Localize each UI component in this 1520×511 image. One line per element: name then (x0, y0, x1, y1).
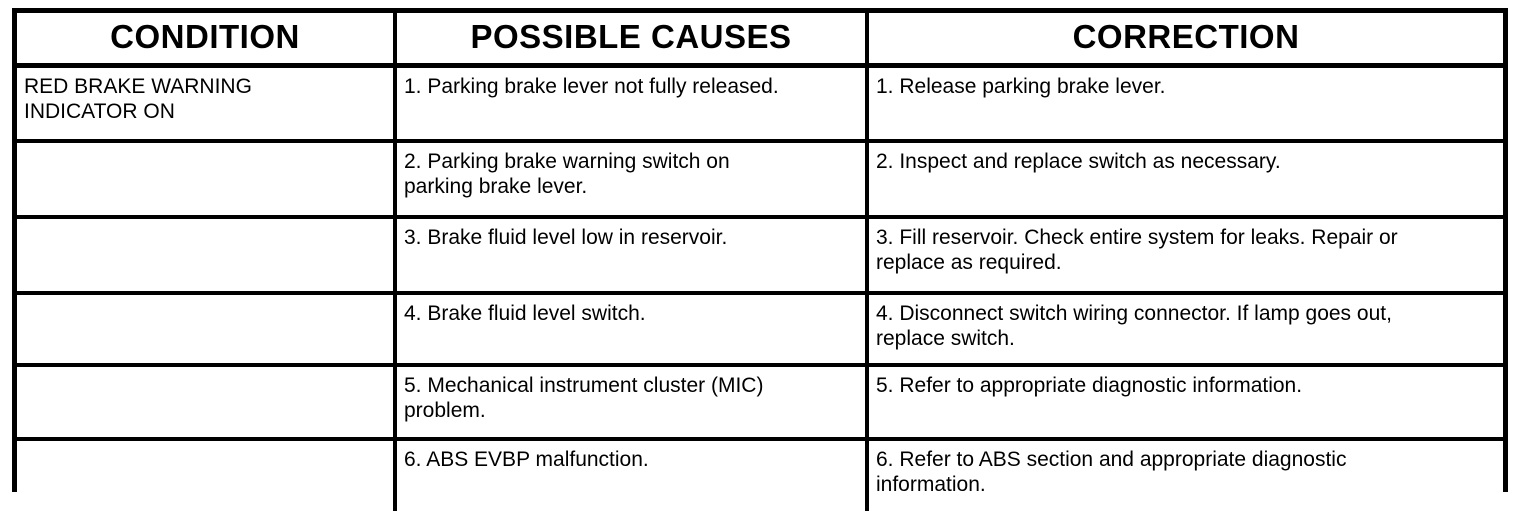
cell-condition (17, 217, 395, 293)
cell-correction: 1. Release parking brake lever. (867, 66, 1503, 142)
table-row: 6. ABS EVBP malfunction. 6. Refer to ABS… (17, 439, 1503, 511)
table-row: 4. Brake fluid level switch. 4. Disconne… (17, 293, 1503, 365)
diagnostic-table-container: CONDITION POSSIBLE CAUSES CORRECTION RED… (12, 8, 1508, 492)
column-header-possible-causes-label: POSSIBLE CAUSES (397, 20, 865, 56)
possible-cause-text: 4. Brake fluid level switch. (397, 295, 865, 332)
column-header-possible-causes: POSSIBLE CAUSES (395, 13, 867, 66)
condition-text: RED BRAKE WARNING INDICATOR ON (17, 68, 393, 130)
cell-correction: 6. Refer to ABS section and appropriate … (867, 439, 1503, 511)
possible-cause-text: 6. ABS EVBP malfunction. (397, 441, 865, 478)
table-row: RED BRAKE WARNING INDICATOR ON 1. Parkin… (17, 66, 1503, 142)
cell-correction: 4. Disconnect switch wiring connector. I… (867, 293, 1503, 365)
table-row: 2. Parking brake warning switch on parki… (17, 141, 1503, 217)
cell-condition (17, 365, 395, 439)
table-body: RED BRAKE WARNING INDICATOR ON 1. Parkin… (17, 66, 1503, 511)
cell-possible-cause: 5. Mechanical instrument cluster (MIC) p… (395, 365, 867, 439)
correction-text: 2. Inspect and replace switch as necessa… (869, 143, 1503, 180)
table-header-row: CONDITION POSSIBLE CAUSES CORRECTION (17, 13, 1503, 66)
column-header-correction: CORRECTION (867, 13, 1503, 66)
correction-text: 4. Disconnect switch wiring connector. I… (869, 295, 1503, 357)
correction-text: 3. Fill reservoir. Check entire system f… (869, 219, 1503, 281)
correction-text: 5. Refer to appropriate diagnostic infor… (869, 367, 1503, 404)
cell-correction: 2. Inspect and replace switch as necessa… (867, 141, 1503, 217)
correction-text: 1. Release parking brake lever. (869, 68, 1503, 105)
column-header-correction-label: CORRECTION (869, 20, 1503, 56)
cell-condition: RED BRAKE WARNING INDICATOR ON (17, 66, 395, 142)
cell-condition (17, 141, 395, 217)
cell-possible-cause: 2. Parking brake warning switch on parki… (395, 141, 867, 217)
cell-condition (17, 439, 395, 511)
cell-correction: 3. Fill reservoir. Check entire system f… (867, 217, 1503, 293)
table-row: 5. Mechanical instrument cluster (MIC) p… (17, 365, 1503, 439)
possible-cause-text: 1. Parking brake lever not fully release… (397, 68, 865, 105)
correction-text: 6. Refer to ABS section and appropriate … (869, 441, 1503, 503)
possible-cause-text: 5. Mechanical instrument cluster (MIC) p… (397, 367, 865, 429)
cell-possible-cause: 4. Brake fluid level switch. (395, 293, 867, 365)
column-header-condition: CONDITION (17, 13, 395, 66)
cell-correction: 5. Refer to appropriate diagnostic infor… (867, 365, 1503, 439)
column-header-condition-label: CONDITION (17, 20, 393, 56)
possible-cause-text: 3. Brake fluid level low in reservoir. (397, 219, 865, 256)
cell-possible-cause: 3. Brake fluid level low in reservoir. (395, 217, 867, 293)
cell-possible-cause: 6. ABS EVBP malfunction. (395, 439, 867, 511)
cell-condition (17, 293, 395, 365)
possible-cause-text: 2. Parking brake warning switch on parki… (397, 143, 865, 205)
diagnostic-table: CONDITION POSSIBLE CAUSES CORRECTION RED… (17, 13, 1503, 511)
cell-possible-cause: 1. Parking brake lever not fully release… (395, 66, 867, 142)
table-row: 3. Brake fluid level low in reservoir. 3… (17, 217, 1503, 293)
